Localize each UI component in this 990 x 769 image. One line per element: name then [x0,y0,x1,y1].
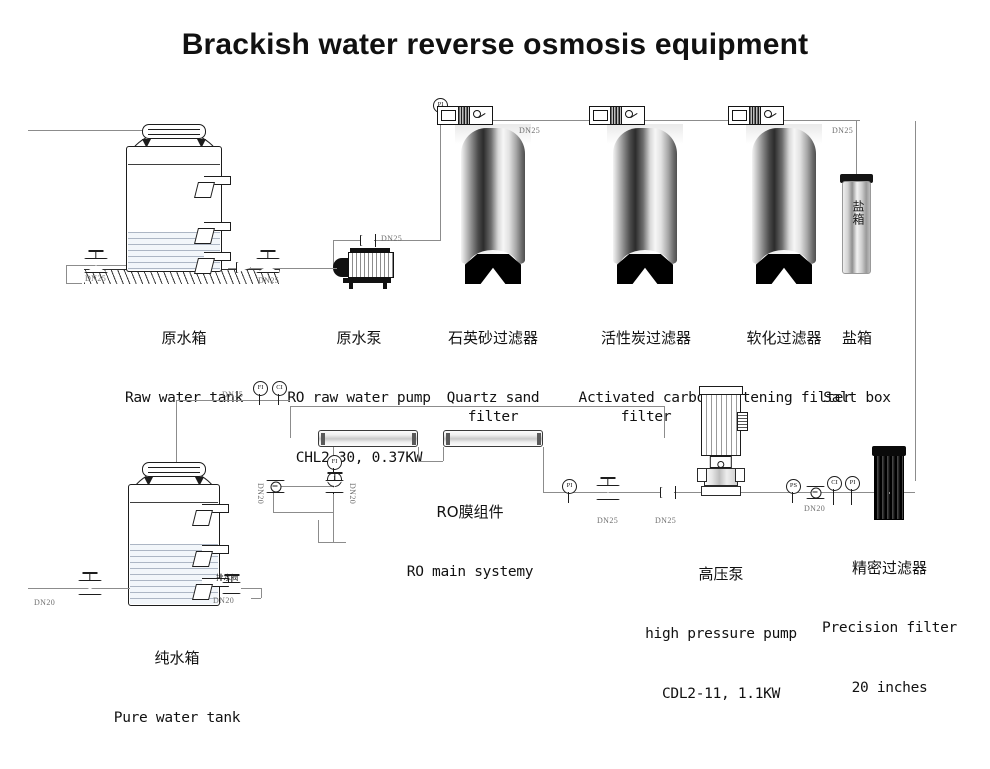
gauge-dial: PI [845,476,860,491]
caption-activated-carbon-filter: 活性炭过滤器 Activated carbon filter [570,288,722,467]
valve-knob [270,481,281,492]
pure-tank-nozzle-top [194,504,232,526]
valve-pure-outlet[interactable] [78,580,102,595]
valve-body [256,258,280,273]
valve-precision-filter-inlet[interactable] [806,486,825,499]
pipe-right-main [915,121,916,481]
nozzle-funnel [192,551,213,567]
caption-salt-box: 盐箱 Salt box [812,288,902,449]
check-valve-rawtank [236,262,251,273]
pump-motor [348,252,394,278]
valve-rawtank-inlet[interactable] [84,258,108,273]
pipe-ro-drain-footdrop [318,520,319,542]
valve-pure-drain[interactable] [222,582,241,594]
pipe-salt-drop [856,120,857,175]
valve-ribs [458,107,469,124]
label-dn-hp-suction: DN25 [597,516,618,525]
valve-ro-drain-right[interactable] [325,480,344,493]
valve-stem [231,576,232,583]
valve-knob [810,487,821,498]
diagram-canvas: Brackish water reverse osmosis equipment… [0,0,990,668]
caption-model: CDL2-11, 1.1KW [630,685,812,704]
check-valve-body [660,487,675,498]
label-dn-rawtank-inlet: DN25 [85,274,106,283]
activated-carbon-filter [613,114,677,284]
pipe-permeate-header [176,400,290,401]
pump-barrel [704,468,738,486]
label-dn-permeate: DN15 [222,390,243,399]
label-dn-pure-out: DN20 [34,598,55,607]
nozzle-funnel [194,228,215,244]
ro-membrane-vessel-1 [318,430,418,447]
valve-stem [89,574,90,581]
valve-stem [267,252,268,259]
pump-foot [701,486,741,496]
caption-en: RO raw water pump [274,389,444,408]
caption-zh: 原水箱 [94,329,274,348]
pipe-permeate-cross [290,406,664,407]
filter-cap [872,446,906,456]
pipe-rawtank-left-foot [66,283,82,284]
caption-en: Salt box [812,389,902,408]
gauge-dial: PS [786,479,801,494]
vessel-base [617,254,673,284]
caption-high-pressure-pump: 高压泵 high pressure pump CDL2-11, 1.1KW [630,524,812,744]
caption-zh: RO膜组件 [375,503,565,522]
label-dn-ro-drain-left: DN20 [256,483,265,504]
pipe-permeate-riser-1 [290,406,291,438]
gauge-dial: CI [272,381,287,396]
raw-tank-nozzle-bottom [196,252,234,274]
label-dn-soft-out: DN25 [832,126,853,135]
valve-body [596,485,620,500]
valve-body [222,582,241,594]
caption-raw-water-tank: 原水箱 Raw water tank [94,288,274,449]
vessel-shell [752,128,816,264]
nozzle-funnel [192,510,213,526]
pure-tank-nozzle-mid [194,545,232,567]
gauge-stem [568,492,569,503]
quartz-sand-filter [461,114,525,284]
label-dn-sand-out: DN25 [519,126,540,135]
caption-ro-membrane: RO膜组件 RO main systemy [375,462,565,623]
pump-neck [710,456,732,468]
pipe-pump-suction [325,268,337,269]
gauge-stem [792,492,793,503]
vessel-shell [613,128,677,264]
valve-stem [334,474,335,481]
caption-pure-water-tank: 纯水箱 Pure water tank [92,608,262,769]
pipe-to-sand-riser [440,120,441,241]
salt-box-body [842,181,871,274]
gauge-dial: FI [327,455,342,470]
multiport-valve-softener[interactable] [728,106,784,125]
caption-en: Raw water tank [94,389,274,408]
valve-body [78,580,102,595]
raw-tank-nozzle-mid [196,222,234,244]
caption-zh: 原水泵 [274,329,444,348]
multiport-valve-sand[interactable] [437,106,493,125]
gauge-stem [833,489,834,505]
check-valve-pump-discharge [360,235,375,246]
high-pressure-pump [701,386,741,496]
valve-window [441,110,456,121]
label-dn-pump-discharge: DN25 [381,234,402,243]
salt-box-inner-label: 盐箱 [850,200,867,226]
caption-zh: 盐箱 [812,329,902,348]
gauge-dial: CI [827,476,842,491]
pipe-ro-interconnect-down-1 [418,447,419,461]
pipe-pure-drain-foot [251,598,261,599]
pump-flange-right [735,468,745,482]
pump-terminal-box [737,412,748,431]
pipe-pf-inlet [889,492,890,494]
pipe-permeate-riser-2 [664,406,665,438]
check-valve-body [236,262,251,273]
valve-ro-drain-left[interactable] [266,480,285,493]
valve-body [325,480,344,493]
ro-membrane-vessel-2 [443,430,543,447]
tank-manhole [142,462,206,477]
nozzle-funnel [194,258,215,274]
pipe-rawtank-left-down [66,265,67,283]
valve-stem [607,479,608,486]
caption-en: Quartz sand filter [423,389,563,426]
raw-tank-nozzle-top [196,176,234,198]
raw-water-tank [126,124,222,272]
gauge-stem [851,489,852,505]
nozzle-funnel [192,584,213,600]
caption-zh: 精密过滤器 [802,559,977,578]
pipe-pure-drain-drop [261,588,262,598]
vessel-base [465,254,521,284]
check-valve-seat [375,234,377,247]
softening-filter [752,114,816,284]
tank-manhole [142,124,206,139]
vessel-shell [461,128,525,264]
check-valve-seat [675,486,677,499]
gauge-dial: PI [562,479,577,494]
pipe-ro-drain-foot [318,542,346,543]
label-dn-ro-drain-right: DN20 [348,483,357,504]
caption-zh: 纯水箱 [92,649,262,668]
label-dn-pure-drain: DN20 [213,596,234,605]
gauge-stem [259,394,260,405]
raw-water-pump [333,252,395,290]
caption-en: RO main systemy [375,563,565,582]
page-title: Brackish water reverse osmosis equipment [0,28,990,62]
valve-body [84,258,108,273]
label-dn-rawtank-outlet: DN25 [258,276,279,285]
valve-ribs [610,107,621,124]
valve-ribs [749,107,760,124]
caption-en: Pure water tank [92,709,262,728]
precision-filter [874,452,904,520]
valve-window [593,110,608,121]
pipe-ro-interconnect-up-2 [443,447,444,461]
pump-motor [701,394,741,456]
valve-rawtank-outlet[interactable] [256,258,280,273]
tank-shoulder [128,164,220,165]
caption-en: Precision filter [802,619,977,638]
caption-size: 20 inches [802,679,977,698]
pipe-pure-drain-run [241,588,261,589]
caption-zh: 高压泵 [630,565,812,584]
check-valve-body [360,235,375,246]
vessel-base [756,254,812,284]
valve-rotor [760,107,783,124]
valve-rotor [469,107,492,124]
nozzle-funnel [194,182,215,198]
caption-en: high pressure pump [630,625,812,644]
valve-stem [95,252,96,259]
valve-window [732,110,747,121]
gauge-stem [278,394,279,405]
caption-zh: 活性炭过滤器 [570,329,722,348]
caption-zh: 石英砂过滤器 [423,329,563,348]
pump-flange-left [697,468,707,482]
valve-hp-suction[interactable] [596,485,620,500]
caption-precision-filter: 精密过滤器 Precision filter 20 inches [802,518,977,738]
pipe-ro-drain-bottom [273,512,333,513]
check-valve-hp [660,487,675,498]
gauge-dial: FI [253,381,268,396]
label-dn-pf-valve: DN20 [804,504,825,513]
valve-rotor [621,107,644,124]
salt-box: 盐箱 [842,172,871,274]
multiport-valve-carbon[interactable] [589,106,645,125]
